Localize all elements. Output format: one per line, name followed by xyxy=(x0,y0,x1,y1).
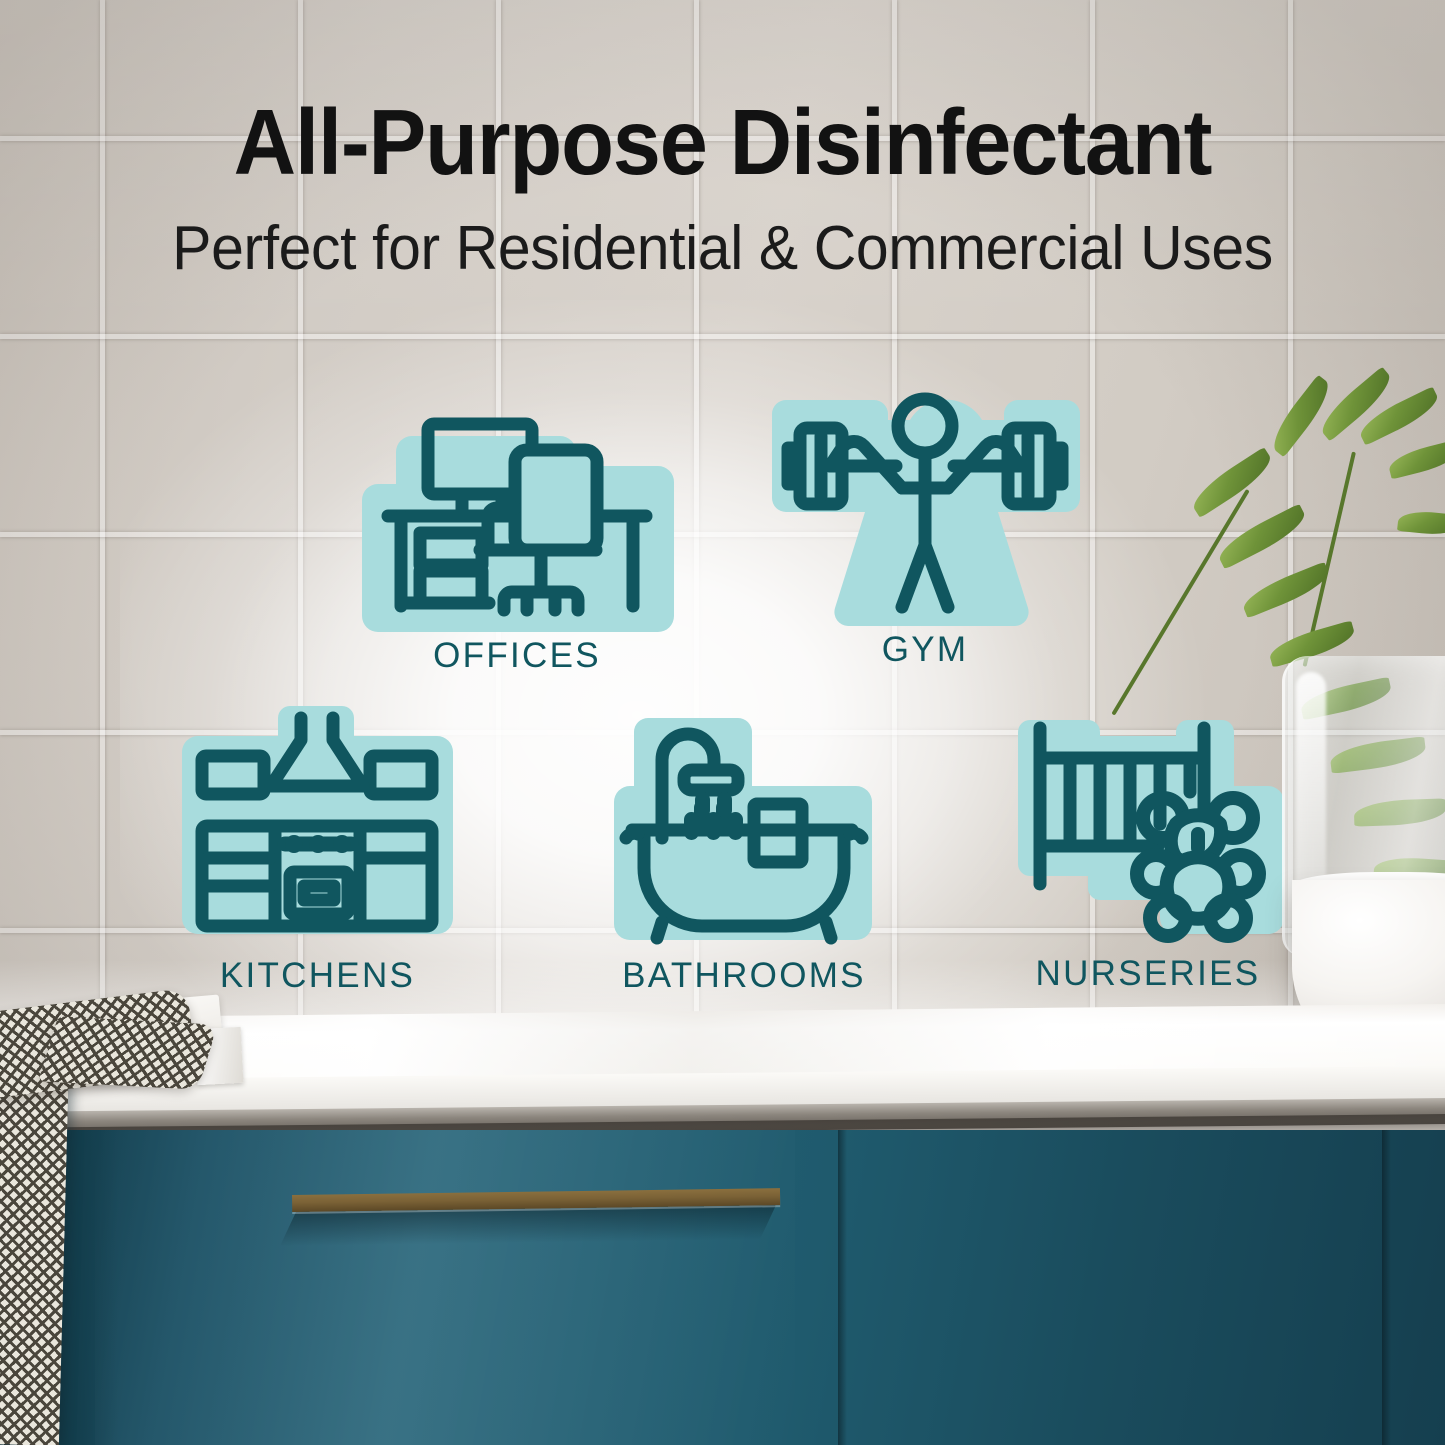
cabinet xyxy=(0,1130,1445,1445)
crib-teddy-bear-icon xyxy=(1008,706,1288,951)
use-case-label-nurseries: NURSERIES xyxy=(1008,954,1288,994)
use-case-label-bathrooms: BATHROOMS xyxy=(604,956,884,996)
product-infographic: All-Purpose Disinfectant Perfect for Res… xyxy=(0,0,1445,1445)
towel-fold xyxy=(38,1016,218,1089)
handle-shadow xyxy=(280,1205,776,1246)
office-desk-chair-icon xyxy=(352,388,682,633)
use-case-card-nurseries[interactable]: NURSERIES xyxy=(1008,706,1288,1006)
weightlifter-barbell-icon xyxy=(770,380,1080,630)
use-case-label-offices: OFFICES xyxy=(352,636,682,676)
page-subtitle: Perfect for Residential & Commercial Use… xyxy=(36,218,1409,280)
page-title: All-Purpose Disinfectant xyxy=(51,96,1395,189)
use-case-card-bathrooms[interactable]: BATHROOMS xyxy=(604,708,884,1008)
use-case-card-gym[interactable]: GYM xyxy=(770,380,1080,680)
use-case-card-kitchens[interactable]: KITCHENS xyxy=(170,706,465,1006)
hanging-towel xyxy=(0,1059,69,1445)
bathtub-shower-icon xyxy=(604,708,884,948)
kitchen-cabinets-stove-icon xyxy=(170,706,465,951)
use-case-label-gym: GYM xyxy=(770,630,1080,670)
use-case-card-offices[interactable]: OFFICES xyxy=(352,388,682,688)
use-case-label-kitchens: KITCHENS xyxy=(170,956,465,996)
